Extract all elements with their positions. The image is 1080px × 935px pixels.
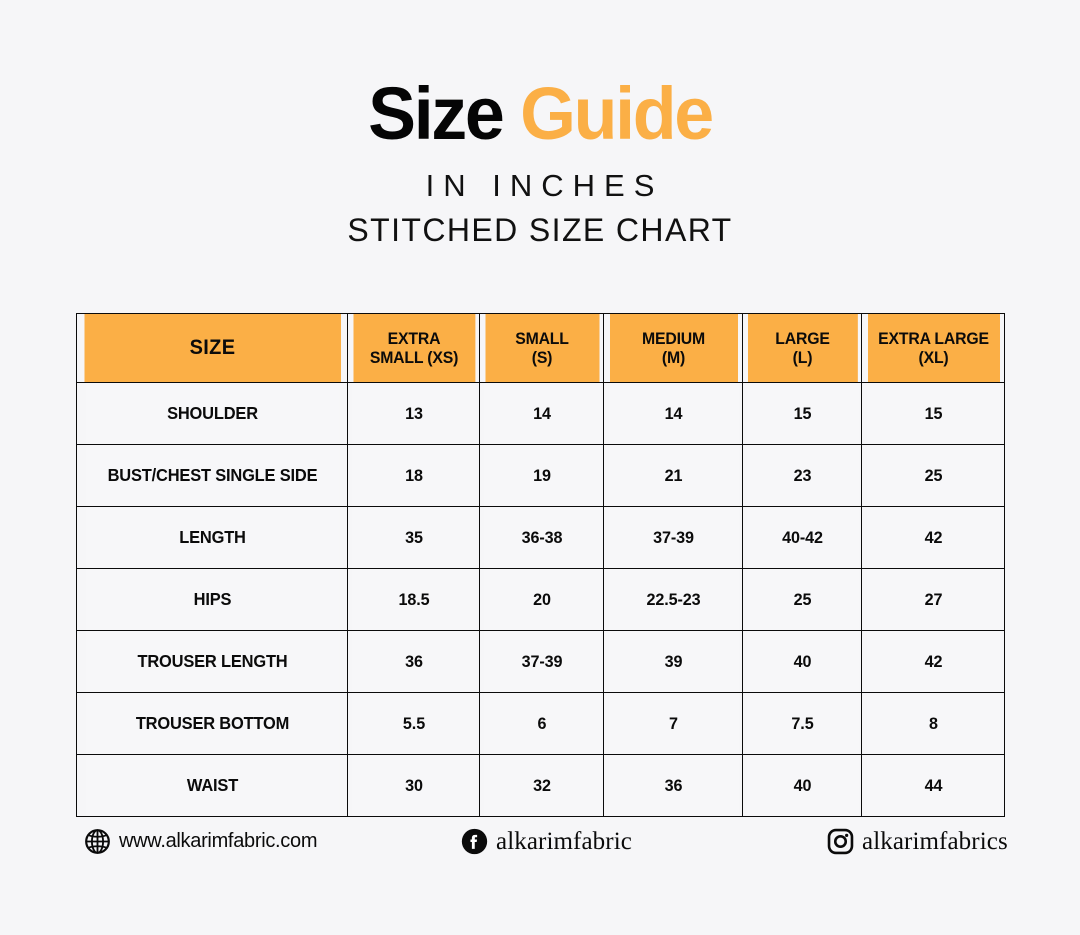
footer-facebook-label: alkarimfabric: [496, 829, 632, 854]
cell-xl: 27: [865, 569, 1001, 631]
header-line1: EXTRA LARGE: [878, 329, 989, 348]
cell-s: 19: [483, 445, 601, 507]
globe-icon: [82, 826, 112, 856]
table-row: WAIST 30 32 36 40 44: [77, 755, 1005, 817]
cell-xl: 44: [865, 755, 1001, 817]
cell-xl: 42: [865, 631, 1001, 693]
cell-m: 37-39: [607, 507, 739, 569]
cell-xl: 15: [865, 383, 1001, 445]
cell-l: 23: [745, 445, 858, 507]
header-line1: SMALL: [515, 329, 569, 348]
header-cell-m: MEDIUM (M): [608, 314, 737, 383]
header-line1: EXTRA: [387, 329, 440, 348]
row-label: TROUSER BOTTOM: [85, 693, 340, 755]
cell-s: 6: [483, 693, 601, 755]
header-line2: (XL): [871, 348, 996, 367]
table-row: HIPS 18.5 20 22.5-23 25 27: [77, 569, 1005, 631]
header-cell-s: SMALL (S): [484, 314, 599, 383]
header-line2: (S): [488, 348, 595, 367]
header-line1: SIZE: [189, 336, 235, 359]
page-title: Size Guide: [16, 78, 1064, 151]
cell-s: 37-39: [483, 631, 601, 693]
cell-s: 32: [483, 755, 601, 817]
table-body: SHOULDER 13 14 14 15 15 BUST/CHEST SINGL…: [77, 383, 1005, 817]
subtitle-chart-type: STITCHED SIZE CHART: [0, 214, 1080, 246]
row-label: BUST/CHEST SINGLE SIDE: [85, 445, 340, 507]
cell-xs: 30: [351, 755, 476, 817]
size-guide-page: Size Guide IN INCHES STITCHED SIZE CHART…: [0, 0, 1080, 935]
title-word-size: Size: [368, 72, 502, 155]
cell-m: 7: [607, 693, 739, 755]
cell-xs: 35: [351, 507, 476, 569]
cell-l: 40: [745, 631, 858, 693]
row-label: SHOULDER: [85, 383, 340, 445]
title-word-guide: Guide: [520, 72, 712, 155]
title-block: Size Guide IN INCHES STITCHED SIZE CHART: [0, 78, 1080, 246]
cell-m: 14: [607, 383, 739, 445]
cell-l: 15: [745, 383, 858, 445]
table-row: SHOULDER 13 14 14 15 15: [77, 383, 1005, 445]
cell-l: 25: [745, 569, 858, 631]
cell-xs: 36: [351, 631, 476, 693]
cell-xl: 42: [865, 507, 1001, 569]
cell-l: 40: [745, 755, 858, 817]
row-label: HIPS: [85, 569, 340, 631]
cell-xl: 8: [865, 693, 1001, 755]
cell-s: 36-38: [483, 507, 601, 569]
footer-facebook[interactable]: alkarimfabric: [459, 818, 632, 864]
table-row: BUST/CHEST SINGLE SIDE 18 19 21 23 25: [77, 445, 1005, 507]
subtitle-units: IN INCHES: [0, 170, 1080, 201]
header-cell-l: LARGE (L): [747, 314, 858, 383]
row-label: LENGTH: [85, 507, 340, 569]
footer-website-label: www.alkarimfabric.com: [119, 831, 317, 851]
cell-l: 7.5: [745, 693, 858, 755]
footer: www.alkarimfabric.com alkarimfabric alka…: [76, 818, 1004, 868]
row-label: WAIST: [85, 755, 340, 817]
header-cell-size: SIZE: [83, 314, 340, 383]
footer-instagram[interactable]: alkarimfabrics: [825, 818, 1008, 864]
row-label: TROUSER LENGTH: [85, 631, 340, 693]
header-line2: (L): [751, 348, 853, 367]
cell-l: 40-42: [745, 507, 858, 569]
header-cell-xl: EXTRA LARGE (XL): [867, 314, 1000, 383]
cell-xs: 13: [351, 383, 476, 445]
cell-xs: 18: [351, 445, 476, 507]
table-header-row: SIZE EXTRA SMALL (XS) SMALL (S) MEDIUM (…: [77, 314, 1005, 383]
facebook-icon: [459, 826, 489, 856]
cell-s: 14: [483, 383, 601, 445]
size-chart-table-wrap: SIZE EXTRA SMALL (XS) SMALL (S) MEDIUM (…: [76, 313, 1004, 817]
header-line2: SMALL (XS): [356, 348, 470, 367]
table-header: SIZE EXTRA SMALL (XS) SMALL (S) MEDIUM (…: [77, 314, 1005, 383]
cell-m: 36: [607, 755, 739, 817]
footer-instagram-label: alkarimfabrics: [862, 829, 1008, 854]
cell-xs: 18.5: [351, 569, 476, 631]
instagram-icon: [825, 826, 855, 856]
cell-s: 20: [483, 569, 601, 631]
header-line1: LARGE: [775, 329, 829, 348]
footer-website[interactable]: www.alkarimfabric.com: [82, 818, 317, 864]
cell-m: 39: [607, 631, 739, 693]
cell-xl: 25: [865, 445, 1001, 507]
header-line2: (M): [613, 348, 734, 367]
table-row: TROUSER LENGTH 36 37-39 39 40 42: [77, 631, 1005, 693]
header-cell-xs: EXTRA SMALL (XS): [352, 314, 475, 383]
cell-m: 21: [607, 445, 739, 507]
cell-xs: 5.5: [351, 693, 476, 755]
table-row: TROUSER BOTTOM 5.5 6 7 7.5 8: [77, 693, 1005, 755]
header-line1: MEDIUM: [641, 329, 704, 348]
cell-m: 22.5-23: [607, 569, 739, 631]
size-chart-table: SIZE EXTRA SMALL (XS) SMALL (S) MEDIUM (…: [76, 313, 1005, 817]
table-row: LENGTH 35 36-38 37-39 40-42 42: [77, 507, 1005, 569]
